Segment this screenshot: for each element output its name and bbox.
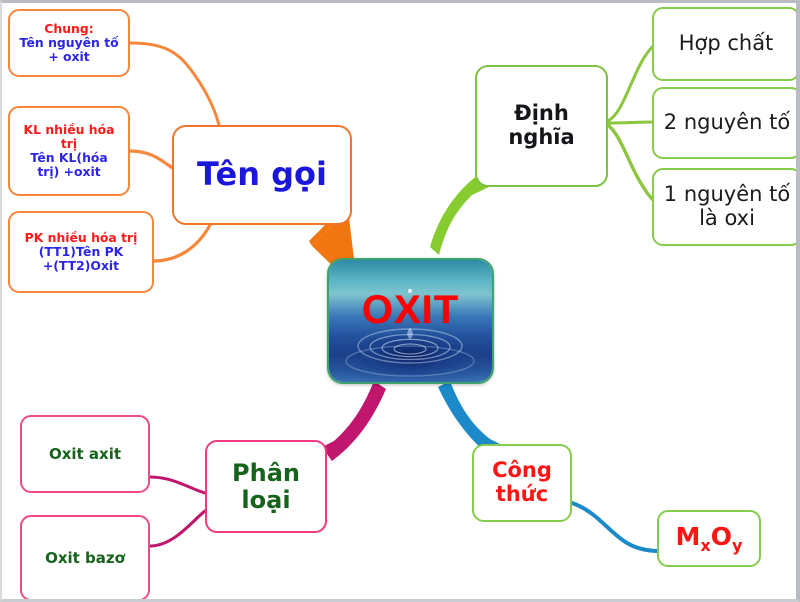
node-ten-goi[interactable]: Tên gọi [172, 125, 352, 225]
node-hai-nguyen-to-label: 2 nguyên tố [664, 111, 790, 135]
connector-oxit-axit [150, 477, 205, 493]
node-cong-thuc-line-2: thức [496, 483, 548, 507]
node-kl-nhieu-hoa-tri[interactable]: KL nhiều hóa trị Tên KL(hóa trị) +oxit [8, 106, 130, 196]
node-chung-line-2: Tên nguyên tố [19, 36, 118, 50]
node-phan-loai-line-1: Phân [232, 460, 300, 487]
mxoy-sub-x: x [700, 536, 710, 555]
node-kl-line-3: Tên KL(hóa [30, 151, 108, 165]
node-oxit-axit[interactable]: Oxit axit [20, 415, 150, 493]
node-ten-goi-label: Tên gọi [197, 157, 327, 193]
node-mot-nguyen-to-line-2: là oxi [699, 207, 755, 231]
node-chung-line-3: + oxit [48, 50, 89, 64]
node-pk-line-2: (TT1)Tên PK [39, 245, 124, 259]
node-cong-thuc[interactable]: Công thức [472, 444, 572, 522]
node-kl-line-4: trị) +oxit [37, 165, 100, 179]
connector-oxit-bazo [150, 511, 205, 546]
node-pk-line-1: PK nhiều hóa trị [25, 231, 138, 245]
connector-1-nguyen-to [608, 125, 654, 201]
node-oxit-bazo-label: Oxit bazơ [45, 550, 125, 567]
branch-dinh-nghia-main [430, 173, 489, 255]
node-dinh-nghia-line-2: nghĩa [508, 126, 574, 150]
connector-mxoy [572, 503, 658, 551]
node-oxit-bazo[interactable]: Oxit bazơ [20, 515, 150, 601]
node-mxoy[interactable]: MxOy [657, 510, 761, 567]
connector-kl [130, 151, 174, 169]
center-node[interactable]: OXIT [327, 258, 494, 384]
node-pk-nhieu-hoa-tri[interactable]: PK nhiều hóa trị (TT1)Tên PK +(TT2)Oxit [8, 211, 154, 293]
connector-chung [130, 43, 220, 129]
center-label: OXIT [329, 288, 492, 333]
node-kl-line-1: KL nhiều hóa [24, 123, 115, 137]
node-cong-thuc-line-1: Công [492, 459, 552, 483]
node-dinh-nghia-line-1: Định [514, 102, 569, 126]
node-kl-line-2: trị [61, 137, 77, 151]
mxoy-sub-y: y [732, 536, 742, 555]
mindmap-canvas: OXIT Tên gọi Chung: Tên nguyên tố + oxit… [0, 0, 800, 602]
node-phan-loai[interactable]: Phân loại [205, 440, 327, 533]
mxoy-base-o: O [711, 522, 732, 551]
node-hai-nguyen-to[interactable]: 2 nguyên tố [652, 87, 800, 159]
node-chung-line-1: Chung: [44, 22, 93, 36]
connector-pk [154, 225, 210, 261]
node-oxit-axit-label: Oxit axit [49, 446, 121, 463]
node-pk-line-3: +(TT2)Oxit [43, 259, 119, 273]
node-chung[interactable]: Chung: Tên nguyên tố + oxit [8, 9, 130, 77]
node-phan-loai-line-2: loại [241, 487, 290, 514]
node-mxoy-formula: MxOy [676, 523, 743, 555]
connector-hop-chat [608, 45, 654, 121]
connector-2-nguyen-to [608, 122, 654, 123]
node-dinh-nghia[interactable]: Định nghĩa [475, 65, 608, 187]
mxoy-base-m: M [676, 522, 701, 551]
branch-phan-loai-main [322, 381, 386, 461]
node-mot-nguyen-to-la-oxi[interactable]: 1 nguyên tố là oxi [652, 168, 800, 246]
node-mot-nguyen-to-line-1: 1 nguyên tố [664, 183, 790, 207]
node-hop-chat-label: Hợp chất [679, 32, 774, 56]
node-hop-chat[interactable]: Hợp chất [652, 7, 800, 81]
